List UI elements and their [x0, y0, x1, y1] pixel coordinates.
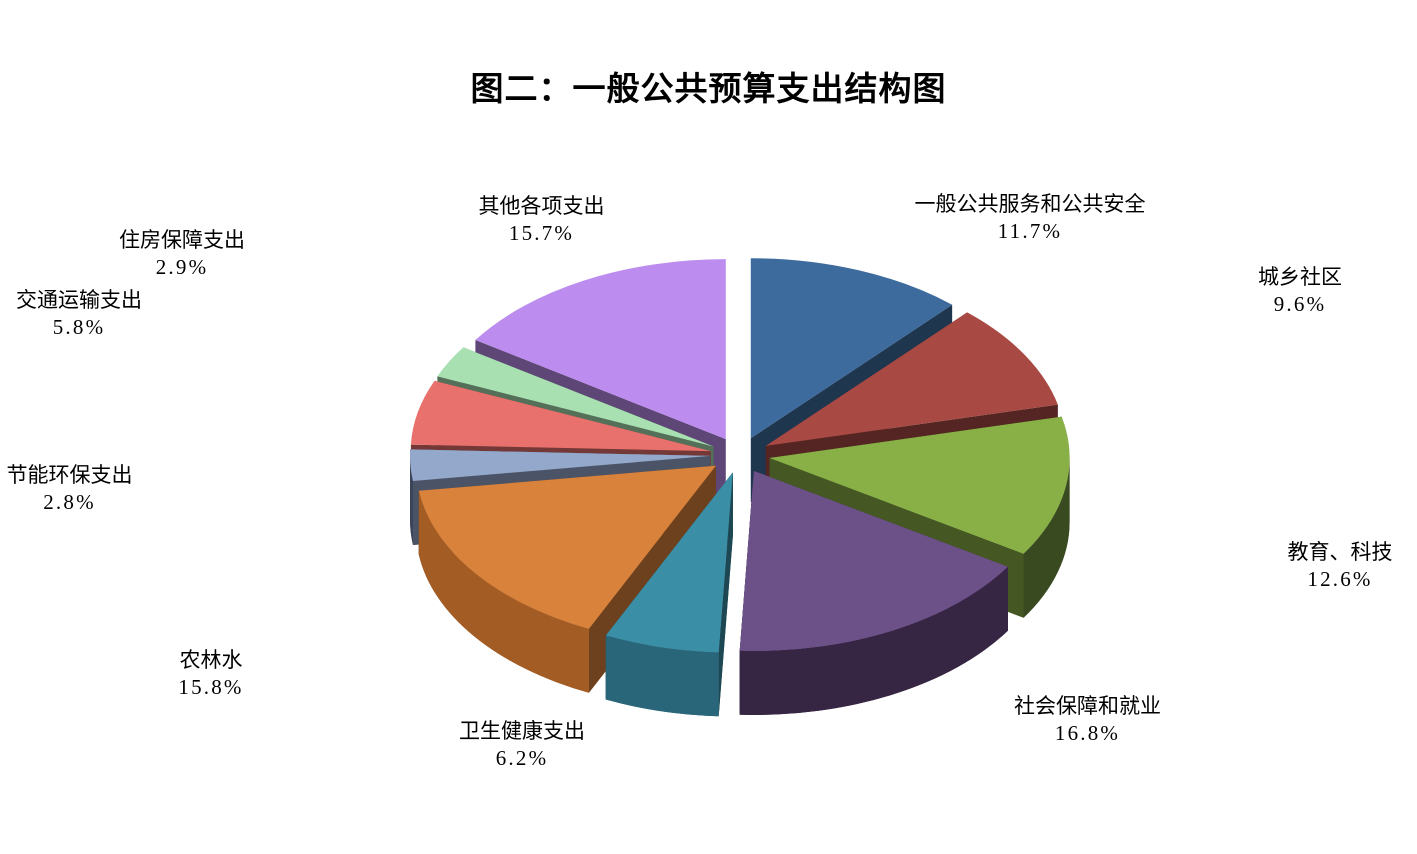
slice-label-percent: 16.8%	[975, 720, 1200, 746]
slice-label-percent: 9.6%	[1205, 291, 1395, 317]
slice-label-name: 城乡社区	[1205, 265, 1395, 291]
slice-label-name: 交通运输支出	[4, 288, 154, 314]
slice-label-percent: 5.8%	[4, 314, 154, 340]
slice-label-urban-rural-community: 城乡社区 9.6%	[1205, 265, 1395, 318]
slice-label-housing-security: 住房保障支出 2.9%	[107, 228, 257, 281]
slice-label-name: 其他各项支出	[464, 194, 619, 220]
slice-label-name: 教育、科技	[1265, 540, 1415, 566]
slice-label-percent: 6.2%	[427, 745, 617, 771]
slice-label-name: 节能环保支出	[0, 463, 142, 489]
slice-label-social-security-employment: 社会保障和就业 16.8%	[975, 694, 1200, 747]
slice-label-energy-conservation: 节能环保支出 2.8%	[0, 463, 142, 516]
slice-label-name: 住房保障支出	[107, 228, 257, 254]
slice-label-agriculture-forestry-water: 农林水 15.8%	[141, 648, 281, 701]
slice-label-percent: 2.8%	[0, 489, 142, 515]
slice-label-name: 农林水	[141, 648, 281, 674]
slice-label-percent: 15.7%	[464, 220, 619, 246]
slice-label-general-public-service: 一般公共服务和公共安全 11.7%	[900, 192, 1160, 245]
slice-label-percent: 12.6%	[1265, 566, 1415, 592]
slice-label-percent: 11.7%	[900, 218, 1160, 244]
slice-label-name: 社会保障和就业	[975, 694, 1200, 720]
slice-label-name: 卫生健康支出	[427, 719, 617, 745]
slice-label-other-expenditures: 其他各项支出 15.7%	[464, 194, 619, 247]
slice-label-percent: 15.8%	[141, 674, 281, 700]
slice-label-transportation: 交通运输支出 5.8%	[4, 288, 154, 341]
slice-label-name: 一般公共服务和公共安全	[900, 192, 1160, 218]
slice-label-percent: 2.9%	[107, 254, 257, 280]
pie-chart-graphic	[0, 0, 1417, 854]
slice-label-education-technology: 教育、科技 12.6%	[1265, 540, 1415, 593]
slice-label-health: 卫生健康支出 6.2%	[427, 719, 617, 772]
pie-chart-page: 图二：一般公共预算支出结构图 一般公共服务和公共安全 11.7% 城乡社区 9.…	[0, 0, 1417, 854]
